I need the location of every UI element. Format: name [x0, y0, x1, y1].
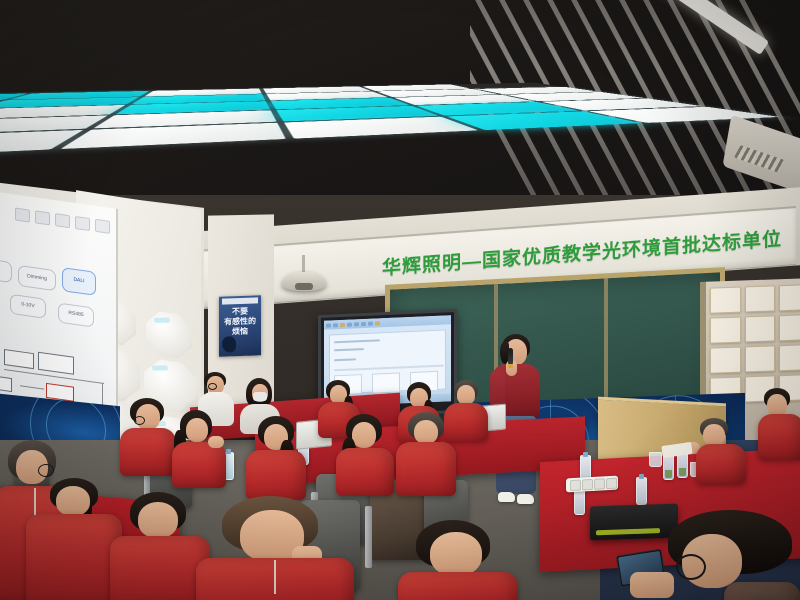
red-polo-shirt	[26, 514, 122, 600]
glasses-icon	[208, 383, 217, 390]
poster-chip-icon	[95, 218, 110, 233]
toolbar-icon	[347, 322, 352, 326]
head	[414, 420, 438, 444]
poster-chip-icon	[75, 215, 90, 230]
audience-member	[26, 478, 122, 600]
water-bottle	[636, 477, 647, 505]
head	[457, 385, 475, 405]
audience-member	[758, 388, 800, 458]
blue-wall-poster: 不要 有感性的 烦恼	[219, 295, 261, 356]
audience-member	[336, 414, 394, 492]
toolbar-icon	[368, 321, 373, 325]
poster-chip-icon	[55, 213, 70, 228]
red-polo-shirt	[246, 450, 306, 500]
presenter-shoe	[498, 492, 515, 502]
presenter-shoe	[517, 494, 534, 504]
blue-poster-text: 不要 有感性的 烦恼	[219, 306, 261, 337]
poster-box: 0-10V	[10, 294, 46, 319]
hand	[208, 436, 224, 448]
audience-member	[246, 416, 306, 496]
paper-cup	[649, 452, 662, 467]
power-strip	[566, 476, 618, 493]
lanyard	[274, 560, 276, 594]
poster-chip-icon	[35, 210, 50, 225]
audience-member	[110, 492, 210, 600]
shirt	[724, 582, 800, 600]
red-polo-shirt	[110, 536, 210, 600]
red-polo-shirt	[396, 442, 456, 496]
framed-certificate	[710, 347, 741, 374]
head	[703, 424, 725, 446]
head	[56, 486, 90, 516]
poster-box: RS485	[58, 303, 94, 328]
person-photographing-with-phone	[624, 516, 800, 600]
glasses-icon	[676, 554, 706, 580]
head	[186, 418, 208, 442]
screen-toolbar	[324, 315, 451, 330]
audience-member	[396, 412, 456, 494]
head	[430, 532, 482, 576]
audience-member	[120, 398, 176, 474]
poster-box: 调光	[0, 257, 12, 283]
framed-certificate	[710, 317, 741, 344]
toolbar-icon-accent	[340, 322, 345, 326]
red-polo-shirt	[336, 448, 394, 496]
poster-header-bar	[222, 297, 258, 304]
head	[138, 502, 178, 538]
microphone	[508, 348, 513, 365]
framed-certificate	[745, 285, 776, 312]
toolbar-icon-accent	[375, 321, 380, 325]
audience-member	[690, 418, 746, 480]
head	[352, 422, 376, 448]
face-mask	[253, 392, 267, 401]
red-polo-shirt	[398, 572, 518, 600]
poster-box-accent: DALI	[62, 267, 96, 296]
audience-member-foreground	[196, 496, 354, 600]
glasses-icon	[38, 464, 54, 477]
head	[767, 394, 787, 416]
hand-holding-phone	[630, 572, 674, 598]
toolbar-icon	[354, 322, 359, 326]
audience-member	[172, 410, 226, 484]
toolbar-icon	[361, 321, 366, 325]
photo-scene: 华辉照明—国家优质教学光环境首批达标单位 调光 Dimming DALI 0-1…	[0, 0, 800, 600]
poster-graphic	[222, 336, 236, 352]
framed-certificate	[779, 284, 800, 311]
glasses-icon	[134, 416, 145, 425]
framed-certificate	[779, 314, 800, 341]
poster-protocol-boxes: 调光 Dimming DALI 0-10V RS485	[0, 243, 112, 352]
framed-certificate	[745, 345, 776, 372]
octagonal-light-fixture	[146, 309, 192, 360]
toolbar-icon	[326, 323, 331, 327]
framed-certificate	[710, 287, 741, 314]
red-polo-shirt	[696, 444, 746, 484]
toolbar-icon	[333, 323, 338, 327]
ceiling-projector	[282, 272, 326, 291]
poster-chip-icon	[15, 207, 30, 222]
red-polo-shirt	[120, 428, 176, 476]
audience-member	[398, 520, 518, 600]
red-polo-shirt	[172, 442, 226, 488]
poster-box: Dimming	[18, 265, 56, 291]
framed-certificate	[779, 344, 800, 371]
framed-certificate	[745, 315, 776, 342]
red-polo-shirt	[758, 414, 800, 460]
